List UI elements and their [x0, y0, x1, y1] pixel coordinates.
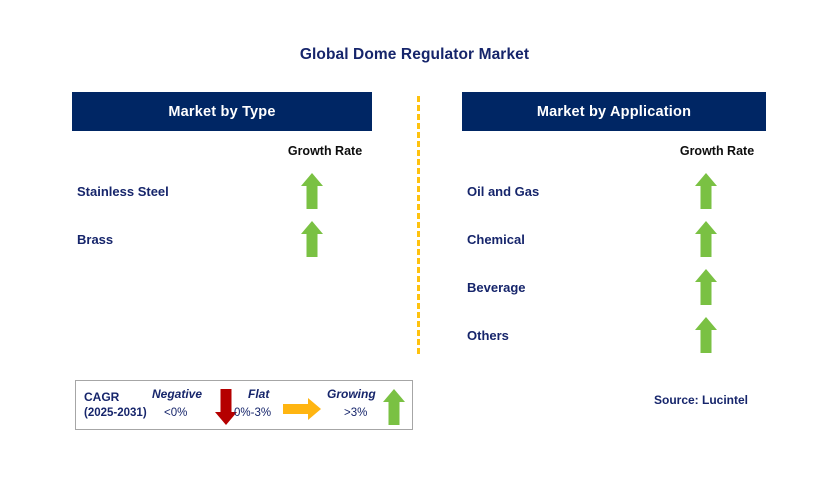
segment-label: Brass [77, 232, 113, 247]
growth-indicator [300, 172, 324, 210]
table-row: Stainless Steel [72, 172, 372, 220]
vertical-dashed-divider [417, 96, 420, 354]
arrow-up-icon [382, 388, 406, 426]
panel-header-market-by-type: Market by Type [72, 92, 372, 131]
growth-rate-label-left: Growth Rate [270, 144, 380, 158]
arrow-up-icon [694, 220, 718, 258]
arrow-right-icon [282, 397, 322, 421]
segment-label: Chemical [467, 232, 525, 247]
panel-header-market-by-application: Market by Application [462, 92, 766, 131]
cagr-period: (2025-2031) [84, 405, 147, 421]
segment-label: Stainless Steel [77, 184, 169, 199]
arrow-up-icon [694, 316, 718, 354]
legend-title-negative: Negative [152, 387, 202, 401]
panel-market-by-type: Market by Type Growth Rate Stainless Ste… [72, 92, 372, 131]
growth-indicator [694, 172, 718, 210]
legend-arrow-growing [382, 388, 406, 426]
legend-title-flat: Flat [248, 387, 269, 401]
segment-label: Oil and Gas [467, 184, 539, 199]
segment-rows-left: Stainless Steel Brass [72, 172, 372, 268]
cagr-legend: CAGR (2025-2031) Negative <0% Flat 0%-3%… [75, 380, 413, 430]
legend-value-flat: 0%-3% [234, 407, 271, 419]
cagr-label: CAGR [84, 389, 147, 405]
panel-market-by-application: Market by Application Growth Rate Oil an… [462, 92, 766, 131]
legend-value-growing: >3% [344, 407, 367, 419]
source-attribution: Source: Lucintel [654, 393, 748, 407]
arrow-up-icon [300, 220, 324, 258]
table-row: Beverage [462, 268, 766, 316]
table-row: Others [462, 316, 766, 364]
arrow-up-icon [694, 268, 718, 306]
table-row: Brass [72, 220, 372, 268]
table-row: Chemical [462, 220, 766, 268]
legend-arrow-flat [282, 397, 322, 421]
segment-rows-right: Oil and Gas Chemical Beverage [462, 172, 766, 364]
segment-label: Others [467, 328, 509, 343]
arrow-up-icon [694, 172, 718, 210]
growth-rate-label-right: Growth Rate [662, 144, 772, 158]
table-row: Oil and Gas [462, 172, 766, 220]
page-title: Global Dome Regulator Market [0, 46, 829, 64]
growth-indicator [300, 220, 324, 258]
growth-indicator [694, 316, 718, 354]
growth-indicator [694, 268, 718, 306]
growth-indicator [694, 220, 718, 258]
arrow-up-icon [300, 172, 324, 210]
legend-value-negative: <0% [164, 407, 187, 419]
cagr-label-block: CAGR (2025-2031) [84, 389, 147, 421]
legend-title-growing: Growing [327, 387, 376, 401]
infographic-canvas: Global Dome Regulator Market Market by T… [0, 0, 829, 485]
segment-label: Beverage [467, 280, 526, 295]
